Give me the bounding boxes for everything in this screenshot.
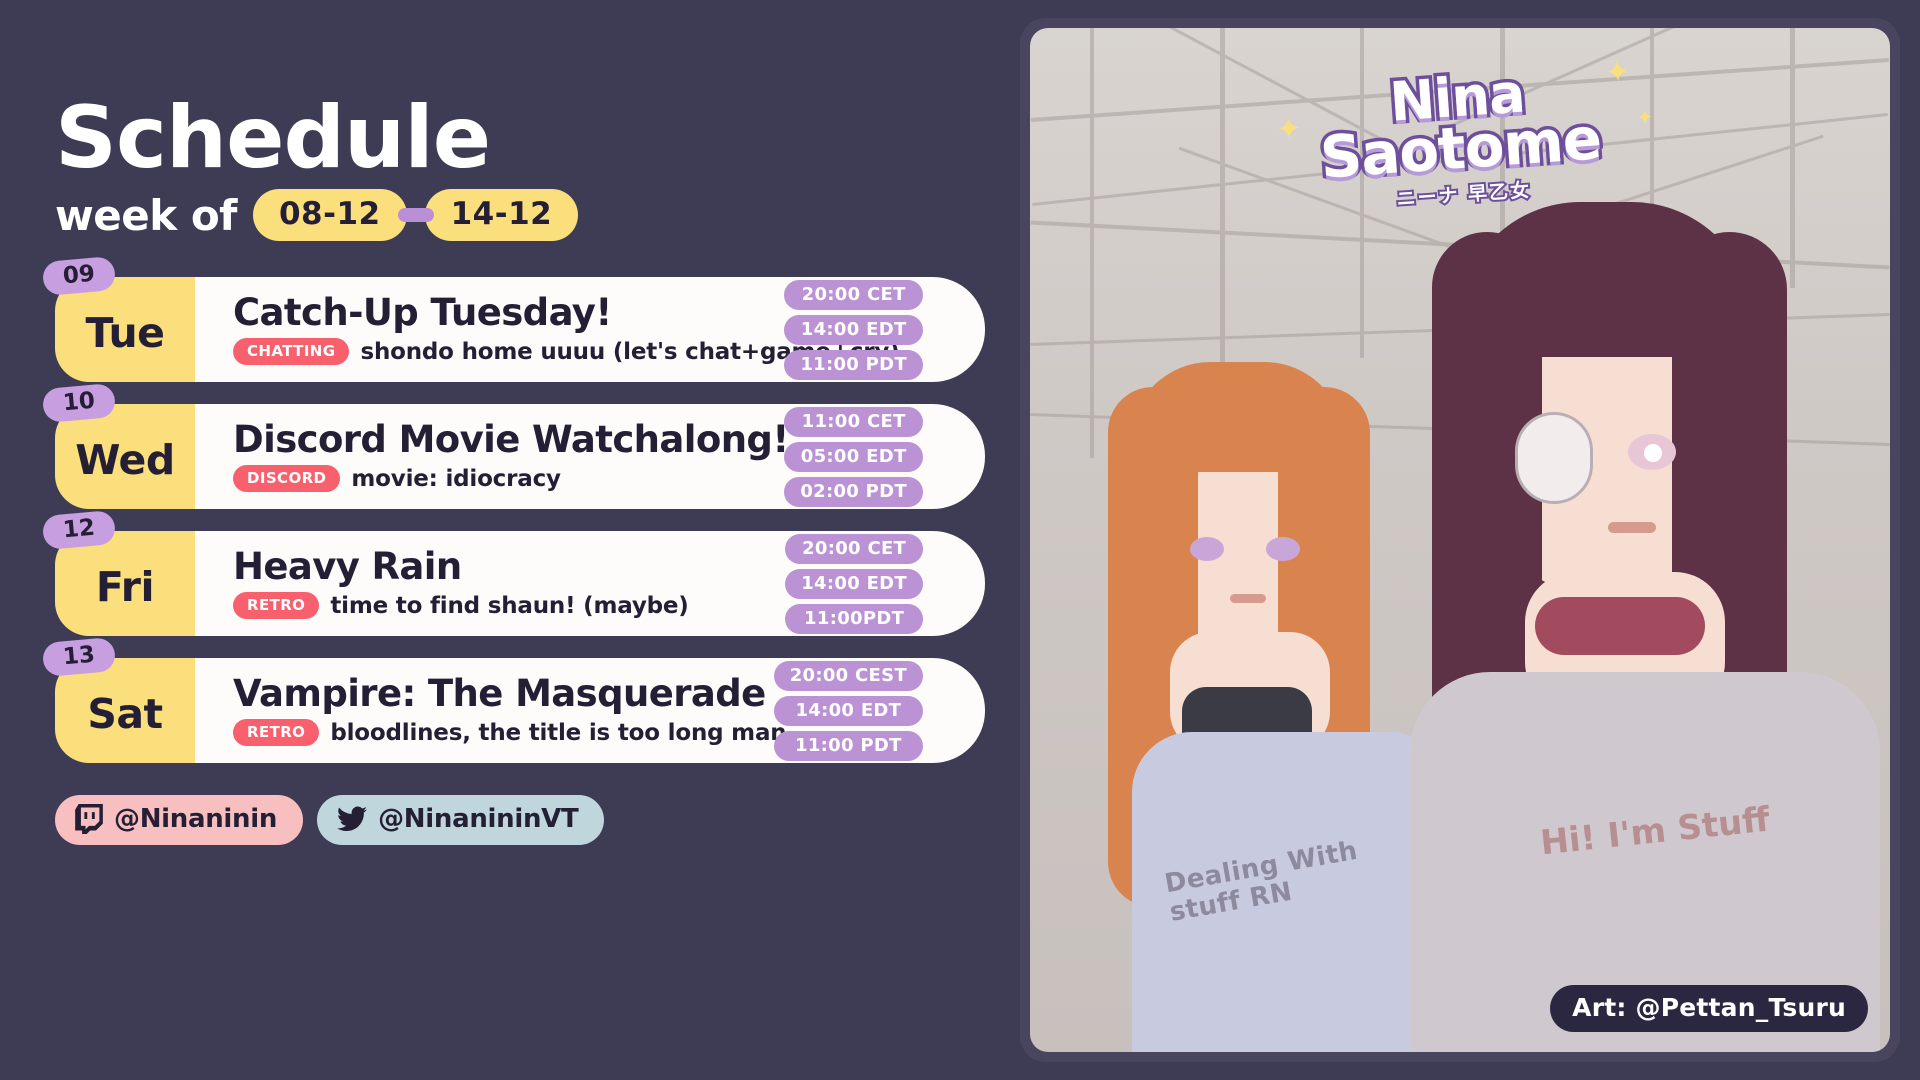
- time-pill-edt: 05:00 EDT: [784, 442, 923, 472]
- schedule-row[interactable]: Discord Movie Watchalong! DISCORD movie:…: [55, 404, 985, 509]
- artwork-image: Dealing With stuff RN Hi! I'm Stuff: [1030, 28, 1890, 1052]
- day-box: 10 Wed: [55, 404, 195, 509]
- day-box: 09 Tue: [55, 277, 195, 382]
- schedule-row[interactable]: Heavy Rain RETRO time to find shaun! (ma…: [55, 531, 985, 636]
- time-pill-pdt: 11:00PDT: [785, 604, 923, 634]
- event-text: Vampire: The Masquerade RETRO bloodlines…: [195, 675, 774, 747]
- time-pill-pdt: 02:00 PDT: [784, 477, 923, 507]
- twitch-link[interactable]: @Ninaninin: [55, 795, 303, 845]
- date-start-pill: 08-12: [253, 189, 407, 241]
- twitch-handle: @Ninaninin: [114, 804, 277, 834]
- event-subrow: CHATTING shondo home uuuu (let's chat+ga…: [233, 338, 784, 365]
- event-card: Vampire: The Masquerade RETRO bloodlines…: [195, 658, 985, 763]
- twitter-link[interactable]: @NinanininVT: [317, 795, 604, 845]
- event-subrow: RETRO bloodlines, the title is too long …: [233, 719, 774, 746]
- time-pill-cet: 20:00 CET: [784, 280, 923, 310]
- event-subtitle: movie: idiocracy: [351, 466, 560, 492]
- time-pill-pdt: 11:00 PDT: [774, 731, 923, 761]
- day-name: Tue: [86, 309, 165, 357]
- category-tag: CHATTING: [233, 338, 349, 365]
- artwork-panel: Dealing With stuff RN Hi! I'm Stuff: [1020, 18, 1900, 1062]
- time-list: 11:00 CET 05:00 EDT 02:00 PDT: [784, 407, 985, 507]
- time-pill-edt: 14:00 EDT: [774, 696, 923, 726]
- event-card: Catch-Up Tuesday! CHATTING shondo home u…: [195, 277, 985, 382]
- event-subrow: DISCORD movie: idiocracy: [233, 465, 784, 492]
- event-subtitle: bloodlines, the title is too long man: [330, 720, 786, 746]
- date-number: 13: [42, 637, 117, 677]
- twitter-handle: @NinanininVT: [378, 804, 578, 834]
- event-subrow: RETRO time to find shaun! (maybe): [233, 592, 785, 619]
- category-tag: RETRO: [233, 719, 319, 746]
- event-title: Catch-Up Tuesday!: [233, 294, 784, 333]
- week-of-label: week of: [55, 191, 237, 240]
- schedule-row[interactable]: Catch-Up Tuesday! CHATTING shondo home u…: [55, 277, 985, 382]
- event-card: Discord Movie Watchalong! DISCORD movie:…: [195, 404, 985, 509]
- art-credit: Art: @Pettan_Tsuru: [1550, 985, 1868, 1032]
- time-pill-cet: 11:00 CET: [784, 407, 923, 437]
- event-subtitle: time to find shaun! (maybe): [330, 593, 688, 619]
- social-links: @Ninaninin @NinanininVT: [55, 795, 1020, 845]
- date-number: 10: [42, 383, 117, 423]
- date-number: 12: [42, 510, 117, 550]
- category-tag: RETRO: [233, 592, 319, 619]
- twitter-icon: [337, 806, 367, 832]
- week-range: week of 08-12 14-12: [55, 189, 1020, 241]
- time-list: 20:00 CEST 14:00 EDT 11:00 PDT: [774, 661, 985, 761]
- date-range-pills: 08-12 14-12: [253, 189, 578, 241]
- time-pill-cet: 20:00 CET: [785, 534, 923, 564]
- event-text: Catch-Up Tuesday! CHATTING shondo home u…: [195, 294, 784, 366]
- day-name: Wed: [75, 436, 174, 484]
- event-card: Heavy Rain RETRO time to find shaun! (ma…: [195, 531, 985, 636]
- schedule-panel: Schedule week of 08-12 14-12 Catch-Up Tu…: [0, 0, 1020, 1080]
- time-pill-edt: 14:00 EDT: [785, 569, 923, 599]
- event-title: Heavy Rain: [233, 548, 785, 587]
- schedule-list: Catch-Up Tuesday! CHATTING shondo home u…: [55, 277, 1020, 763]
- date-number: 09: [42, 256, 117, 296]
- day-name: Fri: [96, 563, 154, 611]
- day-box: 13 Sat: [55, 658, 195, 763]
- page-title: Schedule: [55, 95, 1020, 181]
- time-list: 20:00 CET 14:00 EDT 11:00PDT: [785, 534, 985, 634]
- twitch-icon: [75, 804, 103, 834]
- time-pill-cest: 20:00 CEST: [774, 661, 923, 691]
- schedule-graphic: Schedule week of 08-12 14-12 Catch-Up Tu…: [0, 0, 1920, 1080]
- time-pill-edt: 14:00 EDT: [784, 315, 923, 345]
- schedule-row[interactable]: Vampire: The Masquerade RETRO bloodlines…: [55, 658, 985, 763]
- event-title: Vampire: The Masquerade: [233, 675, 774, 714]
- time-list: 20:00 CET 14:00 EDT 11:00 PDT: [784, 280, 985, 380]
- category-tag: DISCORD: [233, 465, 340, 492]
- day-name: Sat: [87, 690, 162, 738]
- event-text: Heavy Rain RETRO time to find shaun! (ma…: [195, 548, 785, 620]
- event-text: Discord Movie Watchalong! DISCORD movie:…: [195, 421, 784, 493]
- day-box: 12 Fri: [55, 531, 195, 636]
- date-end-pill: 14-12: [425, 189, 579, 241]
- event-title: Discord Movie Watchalong!: [233, 421, 784, 460]
- time-pill-pdt: 11:00 PDT: [784, 350, 923, 380]
- character-right: Hi! I'm Stuff: [1360, 172, 1880, 1052]
- date-range-dash-icon: [398, 208, 434, 222]
